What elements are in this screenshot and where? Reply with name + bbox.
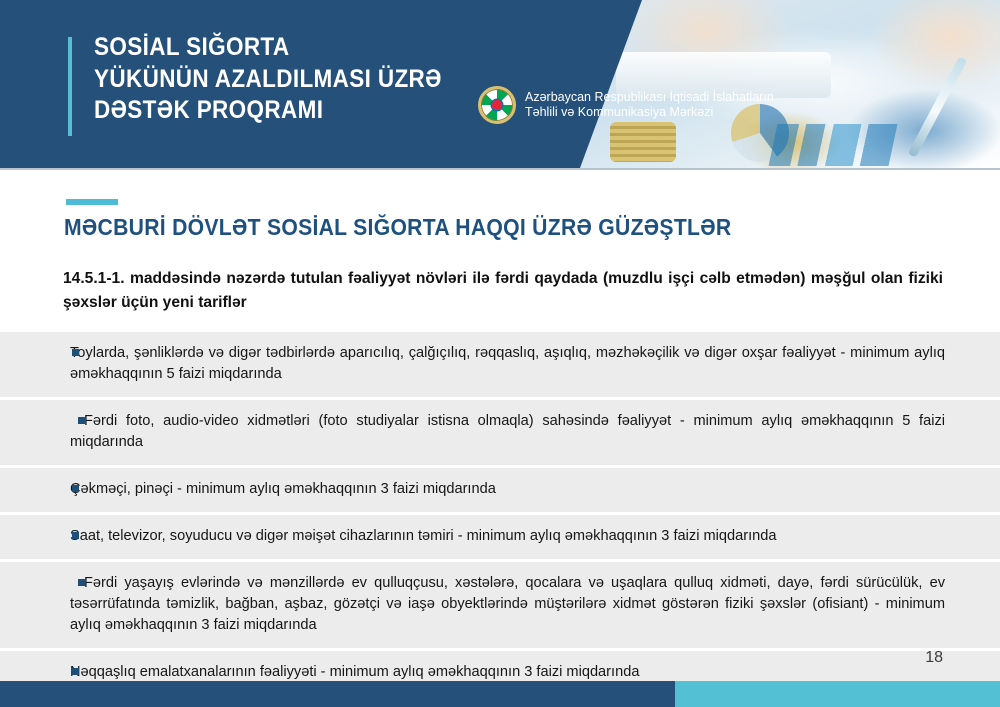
photo-coins: [610, 122, 676, 162]
slide-footer: [0, 681, 1000, 707]
list-item-text: Saat, televizor, soyuducu və digər məişə…: [70, 526, 945, 547]
footer-bar-left: [0, 681, 675, 707]
list-item: Çəkməçi, pinəçi - minimum aylıq əməkhaqq…: [0, 468, 1000, 515]
list-item: Toylarda, şənliklərdə və digər tədbirlər…: [0, 332, 1000, 400]
footer-bar-right: [675, 681, 1000, 707]
section-accent-dash: [66, 199, 118, 205]
benefits-list: Toylarda, şənliklərdə və digər tədbirlər…: [0, 332, 1000, 707]
list-item: Fərdi yaşayış evlərində və mənzillərdə e…: [0, 562, 1000, 651]
organization-name: Azərbaycan Respublikası İqtisadi İslahat…: [525, 90, 774, 121]
list-item-text: Fərdi yaşayış evlərində və mənzillərdə e…: [70, 573, 945, 636]
photo-pen: [908, 56, 968, 157]
azerbaijan-coat-of-arms-icon: [478, 86, 516, 124]
slide-header: SOSİAL SIĞORTA YÜKÜNÜN AZALDILMASI ÜZRƏ …: [0, 0, 1000, 168]
square-bullet-icon: [72, 349, 79, 356]
organization-name-line-2: Təhlili və Kommunikasiya Mərkəzi: [525, 105, 774, 121]
list-item-text: Çəkməçi, pinəçi - minimum aylıq əməkhaqq…: [70, 479, 945, 500]
list-item: Fərdi foto, audio-video xidmətləri (foto…: [0, 400, 1000, 468]
list-item-text: Nəqqaşlıq emalatxanalarının fəaliyyəti -…: [70, 662, 945, 683]
header-divider: [0, 168, 1000, 170]
square-bullet-icon: [72, 485, 79, 492]
square-bullet-icon: [78, 417, 85, 424]
organization-brand: Azərbaycan Respublikası İqtisadi İslahat…: [478, 86, 774, 124]
page-number: 18: [925, 649, 943, 667]
program-title-line-1: SOSİAL SIĞORTA: [94, 32, 598, 64]
list-item-text: Fərdi foto, audio-video xidmətləri (foto…: [70, 411, 945, 453]
list-item: Saat, televizor, soyuducu və digər məişə…: [0, 515, 1000, 562]
lead-paragraph: 14.5.1-1. maddəsində nəzərdə tutulan fəa…: [63, 267, 943, 315]
section-title: MƏCBURİ DÖVLƏT SOSİAL SIĞORTA HAQQI ÜZRƏ…: [64, 214, 731, 241]
header-accent-bar: [68, 37, 72, 136]
organization-name-line-1: Azərbaycan Respublikası İqtisadi İslahat…: [525, 90, 774, 106]
slide: SOSİAL SIĞORTA YÜKÜNÜN AZALDILMASI ÜZRƏ …: [0, 0, 1000, 707]
photo-bar-chart: [769, 124, 898, 166]
square-bullet-icon: [72, 532, 79, 539]
list-item-text: Toylarda, şənliklərdə və digər tədbirlər…: [70, 343, 945, 385]
header-photo-finance: [580, 0, 1000, 168]
square-bullet-icon: [78, 579, 85, 586]
square-bullet-icon: [72, 668, 79, 675]
